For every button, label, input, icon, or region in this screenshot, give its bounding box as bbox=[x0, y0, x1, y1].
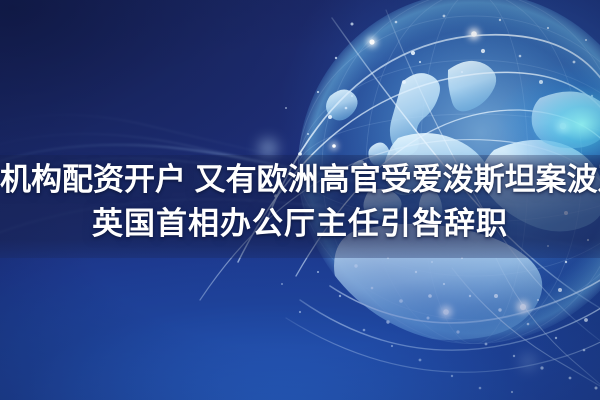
news-banner-image: 机构配资开户 又有欧洲高官受爱泼斯坦案波及！ 英国首相办公厅主任引咎辞职 bbox=[0, 0, 600, 400]
headline-line-2: 英国首相办公厅主任引咎辞职 bbox=[0, 202, 600, 246]
headline-line-1: 机构配资开户 又有欧洲高官受爱泼斯坦案波及！ bbox=[0, 158, 600, 202]
page-title: 机构配资开户 又有欧洲高官受爱泼斯坦案波及！ 英国首相办公厅主任引咎辞职 bbox=[0, 158, 600, 246]
